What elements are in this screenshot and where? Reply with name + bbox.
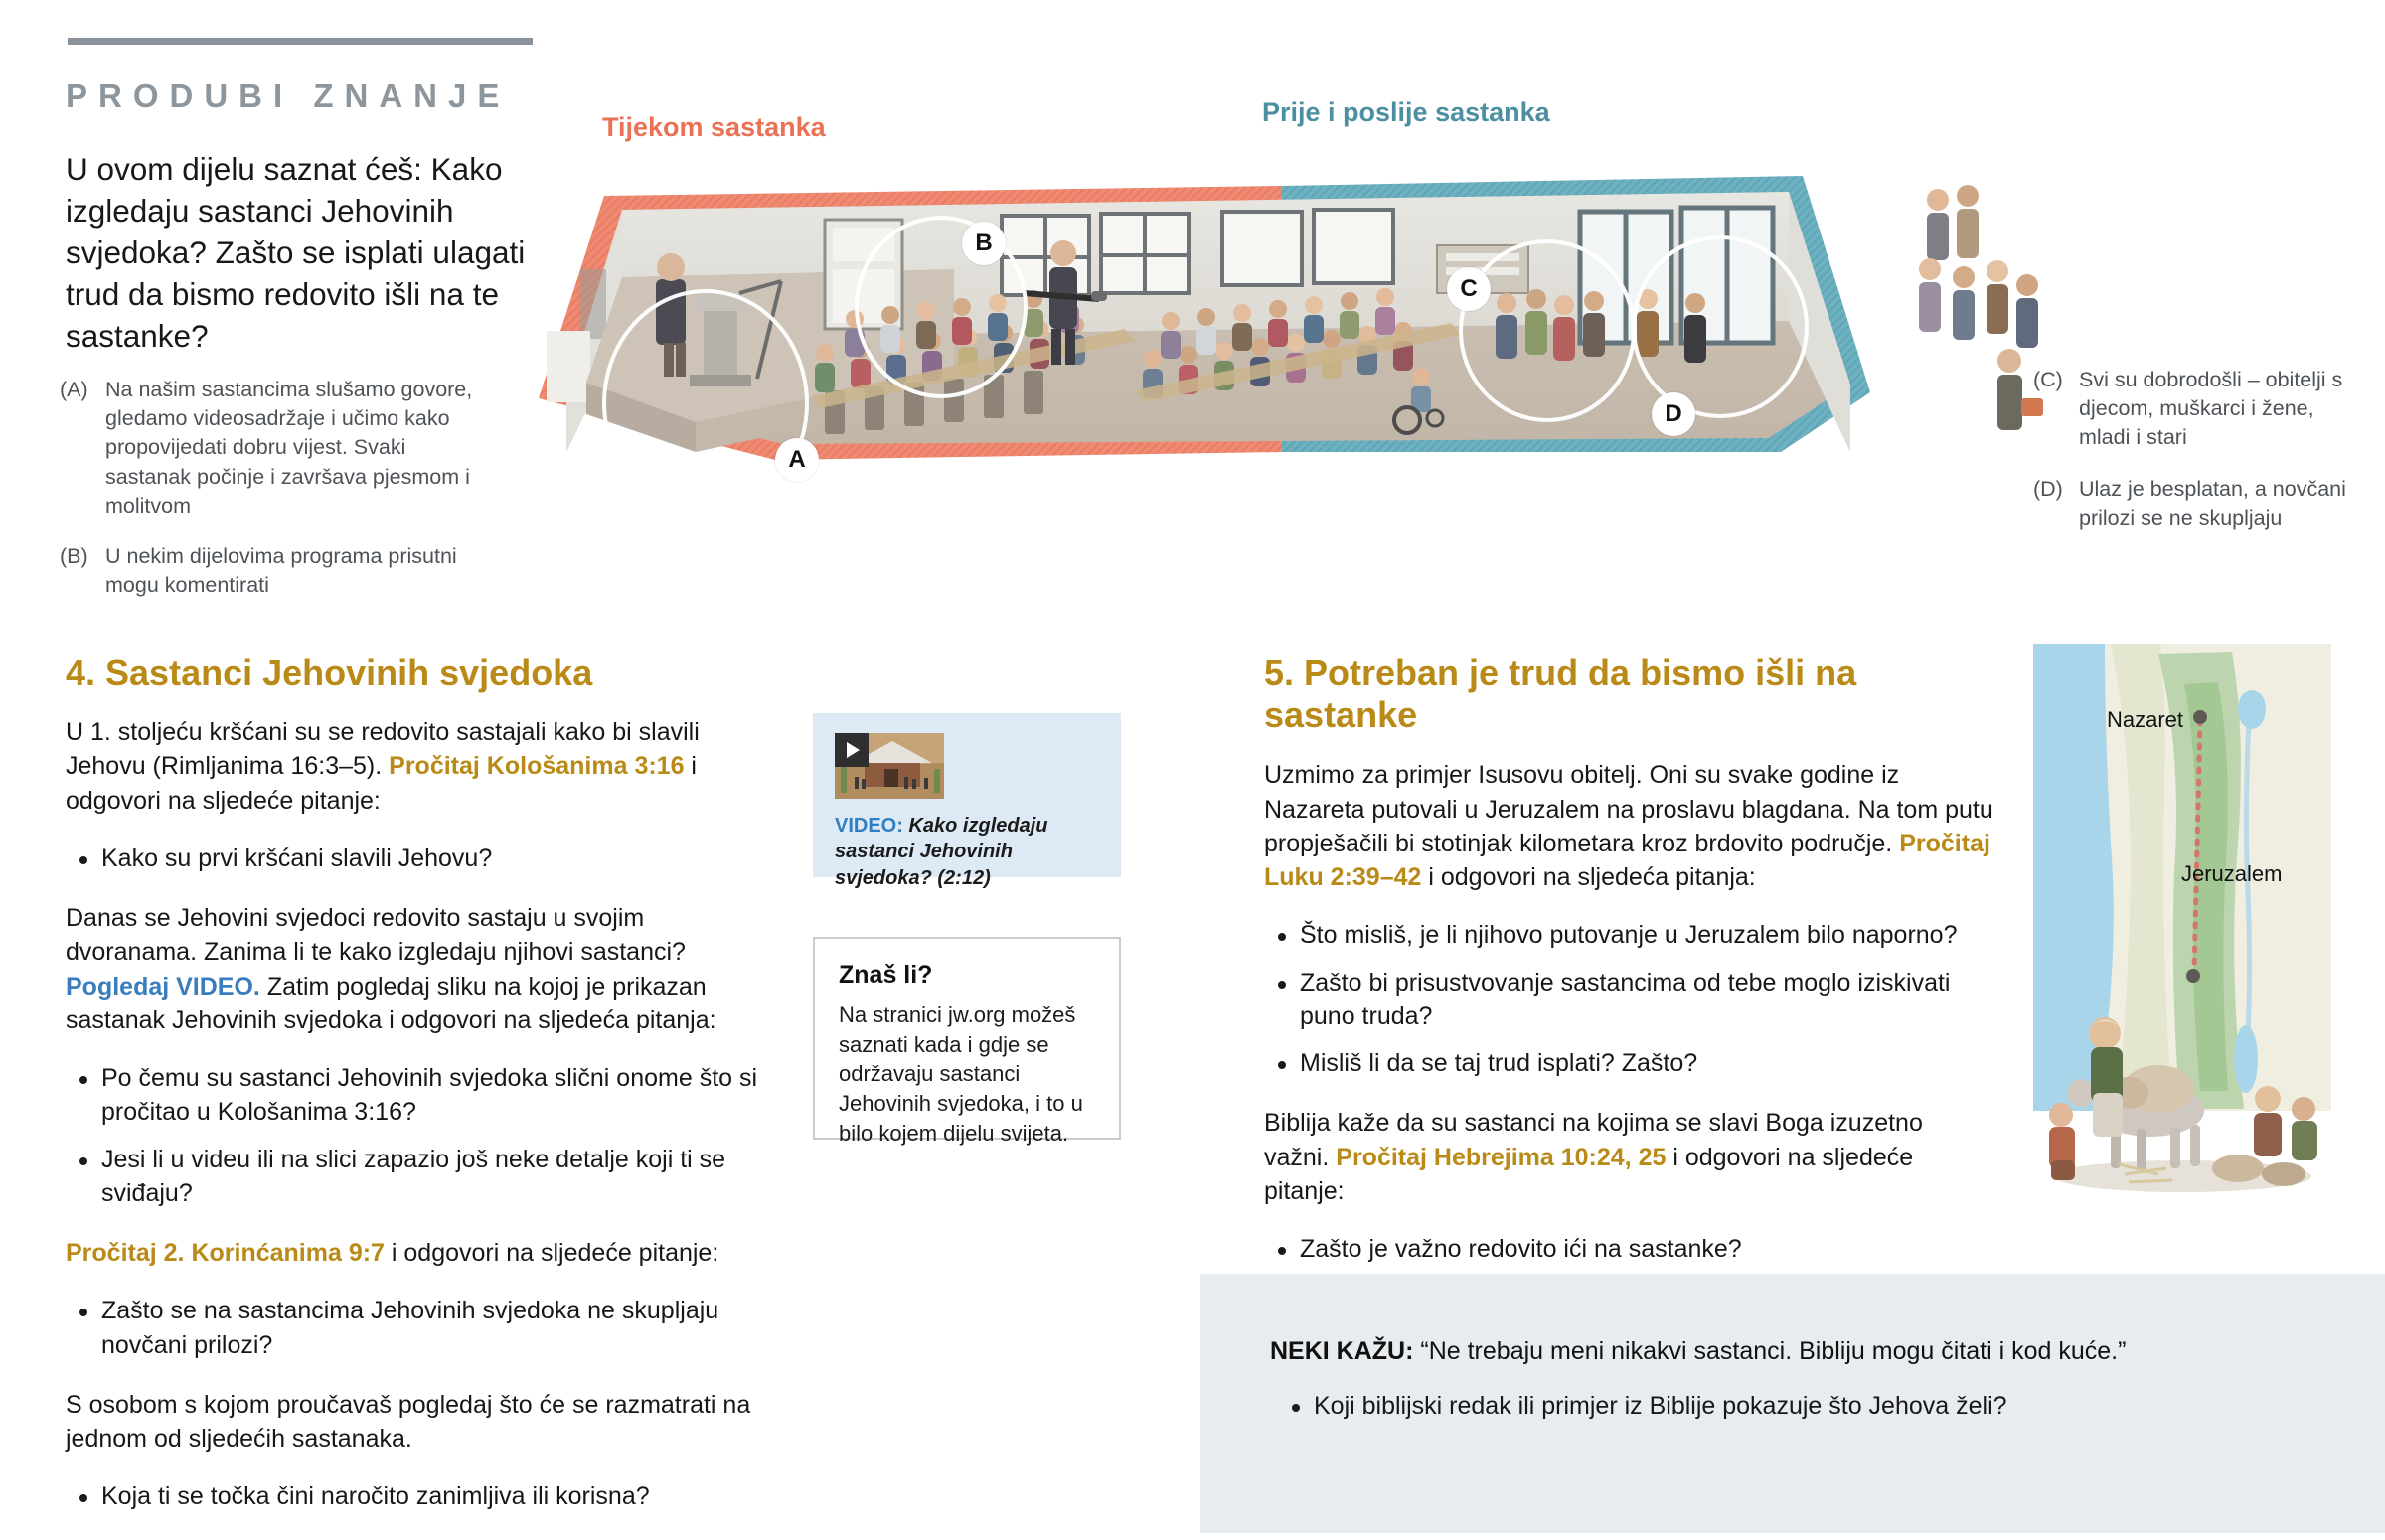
section-5-paragraph-1: Uzmimo za primjer Isusovu obitelj. Oni s… — [1264, 758, 1994, 894]
s4-p2-a: Danas se Jehovini svjedoci redovito sast… — [66, 904, 686, 966]
s4-p3-ref[interactable]: Pročitaj 2. Korinćanima 9:7 — [66, 1239, 385, 1267]
video-caption: VIDEO: Kako izgledaju sastanci Jehovinih… — [835, 813, 1105, 891]
s5-p1-a: Uzmimo za primjer Isusovu obitelj. Oni s… — [1264, 761, 1993, 857]
section-4-title: 4. Sastanci Jehovinih svjedoka — [66, 651, 761, 693]
map-label-nazaret: Nazaret — [2107, 707, 2183, 733]
s4-video-link[interactable]: Pogledaj VIDEO. — [66, 973, 260, 1001]
section-4: 4. Sastanci Jehovinih svjedoka U 1. stol… — [66, 651, 761, 1540]
outside-people-illustration — [1888, 174, 2166, 472]
map-label-jeruzalem: Jeruzalem — [2181, 861, 2282, 887]
list-item: Kako su prvi kršćani slavili Jehovu? — [66, 842, 761, 875]
list-item: Misliš li da se taj trud isplati? Zašto? — [1264, 1046, 1994, 1080]
list-item: Što misliš, je li njihovo putovanje u Je… — [1264, 918, 1994, 952]
s5-p1-b: i odgovori na sljedeća pitanja: — [1421, 863, 1755, 891]
intro-paragraph: U ovom dijelu saznat ćeš: Kako izgledaju… — [66, 149, 574, 357]
legend-tag-d: (D) — [2033, 475, 2079, 533]
list-item: Jesi li u videu ili na slici zapazio još… — [66, 1143, 761, 1211]
some-say-panel: NEKI KAŽU: “Ne trebaju meni nikakvi sast… — [1200, 1274, 2385, 1533]
video-thumbnail[interactable] — [835, 733, 944, 799]
kicker-rule — [68, 38, 533, 45]
some-say-label: NEKI KAŽU: — [1270, 1337, 1413, 1365]
illustration-label-during: Tijekom sastanka — [602, 112, 826, 143]
play-icon[interactable] — [835, 733, 869, 767]
legend-item-b: (B) U nekim dijelovima programa prisutni… — [60, 542, 477, 600]
list-item: Koja ti se točka čini naročito zanimljiv… — [66, 1479, 761, 1513]
kicker-title: PRODUBI ZNANJE — [66, 77, 622, 115]
some-say-quote: “Ne trebaju meni nikakvi sastanci. Bibli… — [1413, 1337, 2126, 1365]
did-you-know-title: Znaš li? — [839, 961, 932, 990]
section-4-paragraph-2: Danas se Jehovini svjedoci redovito sast… — [66, 901, 761, 1037]
highlight-ring-c — [1459, 239, 1636, 422]
legend-item-d: (D) Ulaz je besplatan, a novčani prilozi… — [2033, 475, 2351, 533]
legend-tag-a: (A) — [60, 376, 105, 521]
marker-c: C — [1447, 267, 1491, 311]
kingdom-hall-illustration: A B C D — [527, 154, 1888, 606]
marker-d: D — [1652, 392, 1695, 436]
legend-text-a: Na našim sastancima slušamo govore, gled… — [105, 376, 477, 521]
some-say-lead: NEKI KAŽU: “Ne trebaju meni nikakvi sast… — [1270, 1335, 2323, 1369]
section-5-questions-1: Što misliš, je li njihovo putovanje u Je… — [1264, 918, 1994, 1080]
some-say-questions: Koji biblijski redak ili primjer iz Bibl… — [1278, 1389, 2311, 1436]
list-item: Zašto je važno redovito ići na sastanke? — [1264, 1232, 1994, 1266]
highlight-ring-a — [602, 289, 809, 518]
list-item: Po čemu su sastanci Jehovinih svjedoka s… — [66, 1061, 761, 1130]
illustration-label-before-after: Prije i poslije sastanka — [1262, 97, 1550, 128]
s4-p1-ref[interactable]: Pročitaj Kološanima 3:16 — [389, 752, 684, 780]
legend-text-d: Ulaz je besplatan, a novčani prilozi se … — [2079, 475, 2351, 533]
section-4-paragraph-1: U 1. stoljeću kršćani su se redovito sas… — [66, 715, 761, 818]
section-4-paragraph-4: S osobom s kojom proučavaš pogledaj što … — [66, 1388, 761, 1457]
legend-left: (A) Na našim sastancima slušamo govore, … — [60, 376, 477, 623]
page-root: PRODUBI ZNANJE U ovom dijelu saznat ćeš:… — [0, 0, 2385, 1533]
s4-p3-b: i odgovori na sljedeće pitanje: — [385, 1239, 718, 1267]
section-5-questions-2: Zašto je važno redovito ići na sastanke? — [1264, 1232, 1994, 1266]
section-5-title: 5. Potreban je trud da bismo išli na sas… — [1264, 651, 1994, 736]
section-4-paragraph-3: Pročitaj 2. Korinćanima 9:7 i odgovori n… — [66, 1236, 761, 1270]
list-item: Koji biblijski redak ili primjer iz Bibl… — [1278, 1389, 2311, 1423]
section-5-paragraph-2: Biblija kaže da su sastanci na kojima se… — [1264, 1106, 1994, 1208]
section-4-questions-3: Zašto se na sastancima Jehovinih svjedok… — [66, 1294, 761, 1362]
marker-b: B — [962, 222, 1006, 265]
did-you-know-text: Na stranici jw.org možeš saznati kada i … — [839, 1001, 1093, 1148]
marker-a: A — [775, 438, 819, 482]
legend-item-a: (A) Na našim sastancima slušamo govore, … — [60, 376, 477, 521]
section-4-questions-2: Po čemu su sastanci Jehovinih svjedoka s… — [66, 1061, 761, 1210]
section-5: 5. Potreban je trud da bismo išli na sas… — [1264, 651, 1994, 1292]
video-key-label: VIDEO: — [835, 815, 903, 837]
highlight-ring-d — [1632, 235, 1809, 418]
video-callout[interactable]: VIDEO: Kako izgledaju sastanci Jehovinih… — [813, 713, 1121, 877]
did-you-know-box: Znaš li? Na stranici jw.org možeš saznat… — [813, 937, 1121, 1140]
s5-p2-ref[interactable]: Pročitaj Hebrejima 10:24, 25 — [1336, 1144, 1666, 1171]
section-4-questions-4: Koja ti se točka čini naročito zanimljiv… — [66, 1479, 761, 1513]
section-4-questions-1: Kako su prvi kršćani slavili Jehovu? — [66, 842, 761, 875]
list-item: Zašto bi prisustvovanje sastancima od te… — [1264, 966, 1994, 1034]
legend-text-b: U nekim dijelovima programa prisutni mog… — [105, 542, 477, 600]
legend-tag-b: (B) — [60, 542, 105, 600]
list-item: Zašto se na sastancima Jehovinih svjedok… — [66, 1294, 761, 1362]
